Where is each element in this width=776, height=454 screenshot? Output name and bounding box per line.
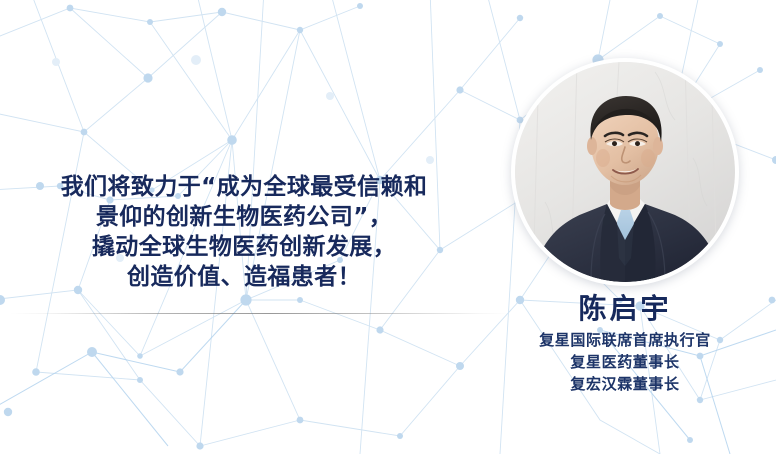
quote-line-1: 我们将致力于“成为全球最受信赖和: [0, 172, 488, 202]
person-title-3: 复宏汉霖董事长: [489, 373, 761, 395]
quote-line-2: 景仰的创新生物医药公司”，: [0, 202, 488, 232]
person-title-1: 复星国际联席首席执行官: [489, 329, 761, 351]
person-title-2: 复星医药董事长: [489, 351, 761, 373]
quote-line-4: 创造价值、造福患者！: [0, 262, 488, 292]
quote-line-3: 撬动全球生物医药创新发展，: [0, 232, 488, 262]
portrait-frame: [511, 58, 739, 286]
portrait-photo: [515, 62, 735, 282]
slide-canvas: 我们将致力于“成为全球最受信赖和 景仰的创新生物医药公司”， 撬动全球生物医药创…: [0, 0, 776, 454]
person-info-block: 陈启宇 复星国际联席首席执行官 复星医药董事长 复宏汉霖董事长: [489, 292, 761, 395]
quote-divider: [10, 313, 510, 314]
portrait-ring: [515, 62, 735, 282]
person-name: 陈启宇: [489, 292, 761, 326]
quote-block: 我们将致力于“成为全球最受信赖和 景仰的创新生物医药公司”， 撬动全球生物医药创…: [0, 172, 488, 292]
